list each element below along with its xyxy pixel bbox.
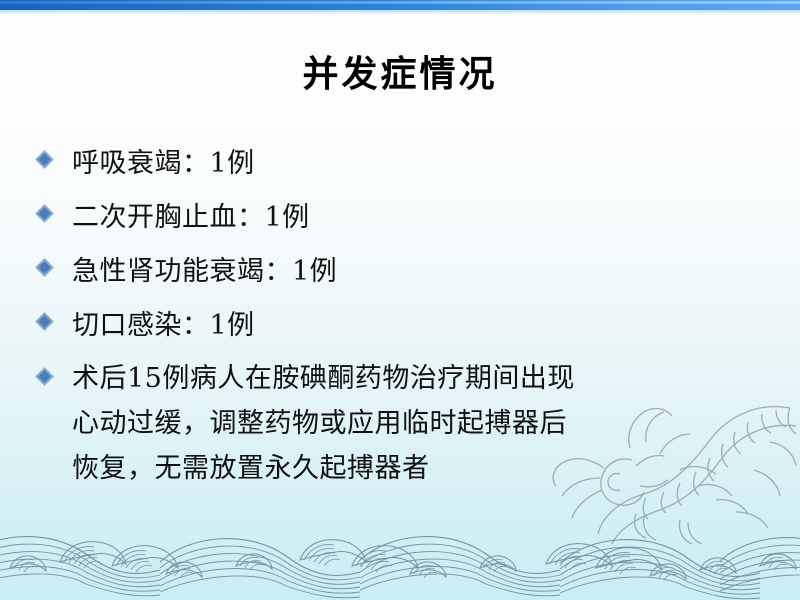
top-accent-bar-shadow	[0, 10, 800, 15]
diamond-bullet-icon	[38, 248, 72, 279]
presentation-slide: 并发症情况 呼吸衰竭：1例 二次开胸止血：1例 急性肾功能衰竭：1例 切口感染：…	[0, 0, 800, 600]
list-item-label: 急性肾功能衰竭：1例	[72, 248, 752, 296]
list-item-label: 二次开胸止血：1例	[72, 194, 752, 242]
diamond-bullet-icon	[38, 302, 72, 333]
list-item: 急性肾功能衰竭：1例	[38, 248, 752, 296]
slide-title: 并发症情况	[0, 52, 800, 98]
list-item: 切口感染：1例	[38, 302, 752, 350]
list-item-label: 切口感染：1例	[72, 302, 752, 350]
top-accent-bar-highlight	[0, 1, 800, 4]
list-item: 呼吸衰竭：1例	[38, 140, 752, 188]
top-accent-bar	[0, 0, 800, 10]
list-item: 二次开胸止血：1例	[38, 194, 752, 242]
diamond-bullet-icon	[38, 140, 72, 171]
list-item-label: 呼吸衰竭：1例	[72, 140, 752, 188]
dragon-illustration	[540, 382, 800, 572]
diamond-bullet-icon	[38, 194, 72, 225]
diamond-bullet-icon	[38, 356, 72, 388]
